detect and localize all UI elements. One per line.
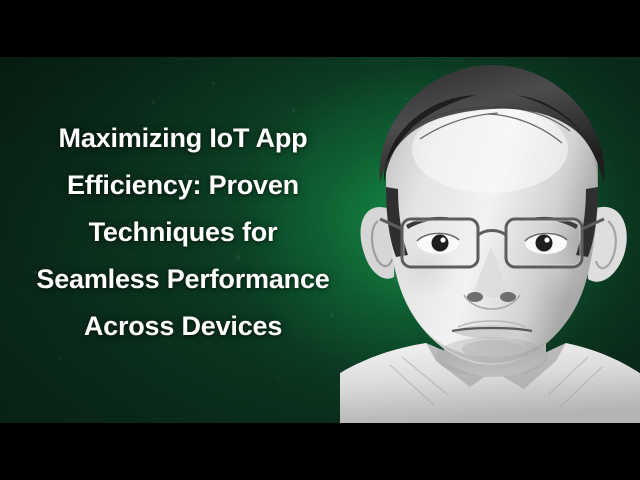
thumbnail-title: Maximizing IoT App Efficiency: Proven Te…: [0, 57, 366, 423]
speaker-portrait: [340, 57, 640, 423]
title-line-1: Maximizing IoT App: [59, 115, 308, 162]
letterbox-bar-top: [0, 0, 640, 57]
video-thumbnail: Maximizing IoT App Efficiency: Proven Te…: [0, 0, 640, 480]
letterbox-bar-bottom: [0, 423, 640, 480]
title-line-2: Efficiency: Proven: [67, 162, 299, 209]
title-line-5: Across Devices: [84, 303, 282, 350]
title-line-4: Seamless Performance: [36, 256, 329, 303]
title-line-3: Techniques for: [89, 209, 278, 256]
thumbnail-art-frame: Maximizing IoT App Efficiency: Proven Te…: [0, 57, 640, 423]
